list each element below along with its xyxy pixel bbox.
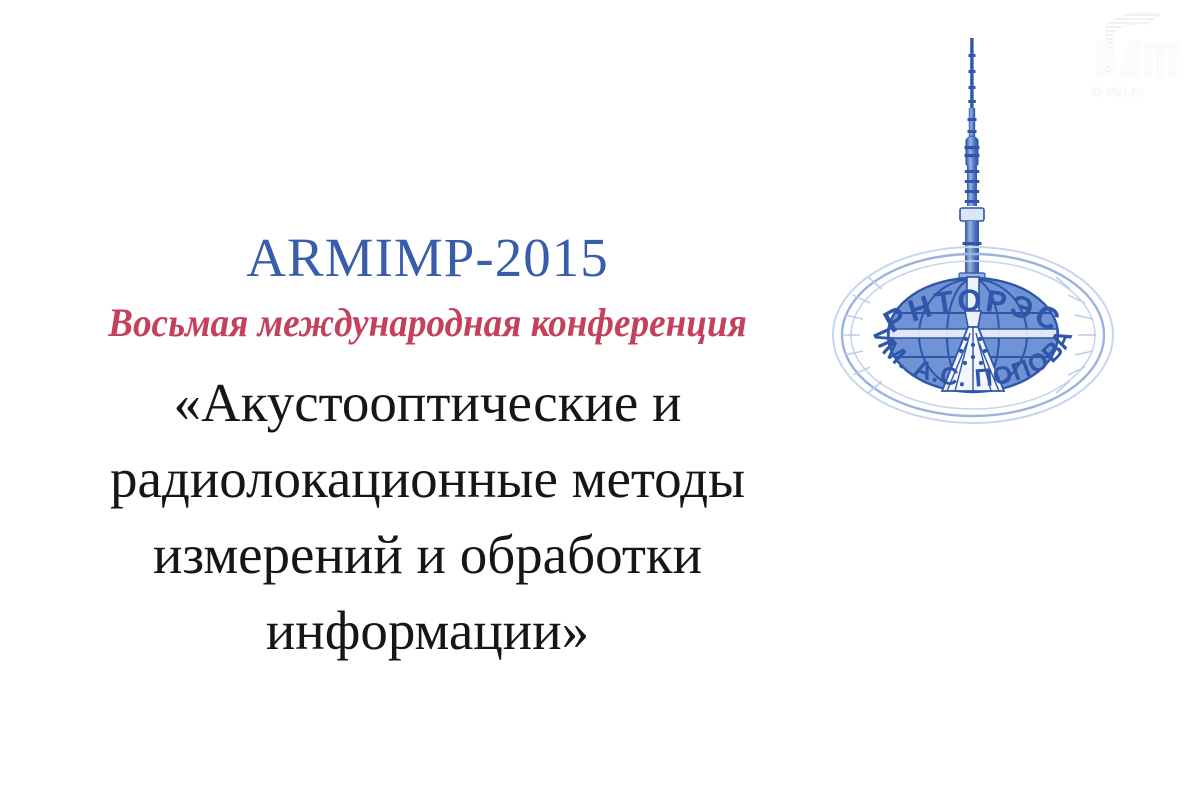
rntores-popov-emblem: РНТОРЭС ИМ. А.С. ПОПОВА [828, 18, 1118, 488]
title-line-3: измерений и обработки [0, 517, 855, 593]
ostankino-tower-icon [958, 38, 986, 314]
conference-subtitle: Восьмая международная конференция [30, 300, 825, 346]
text-block: ARMIMP-2015 Восьмая международная конфер… [0, 0, 855, 800]
conference-acronym: ARMIMP-2015 [0, 229, 855, 287]
title-line-1: «Акустооптические и [0, 365, 855, 441]
title-line-4: информации» [0, 593, 855, 669]
conference-banner: © vlvt.ru ARMIMP-2015 Восьмая международ… [0, 0, 1200, 800]
title-line-2: радиолокационные методы [0, 441, 855, 517]
emblem-graphic: РНТОРЭС ИМ. А.С. ПОПОВА [828, 18, 1118, 488]
conference-title: «Акустооптические и радиолокационные мет… [0, 365, 855, 669]
